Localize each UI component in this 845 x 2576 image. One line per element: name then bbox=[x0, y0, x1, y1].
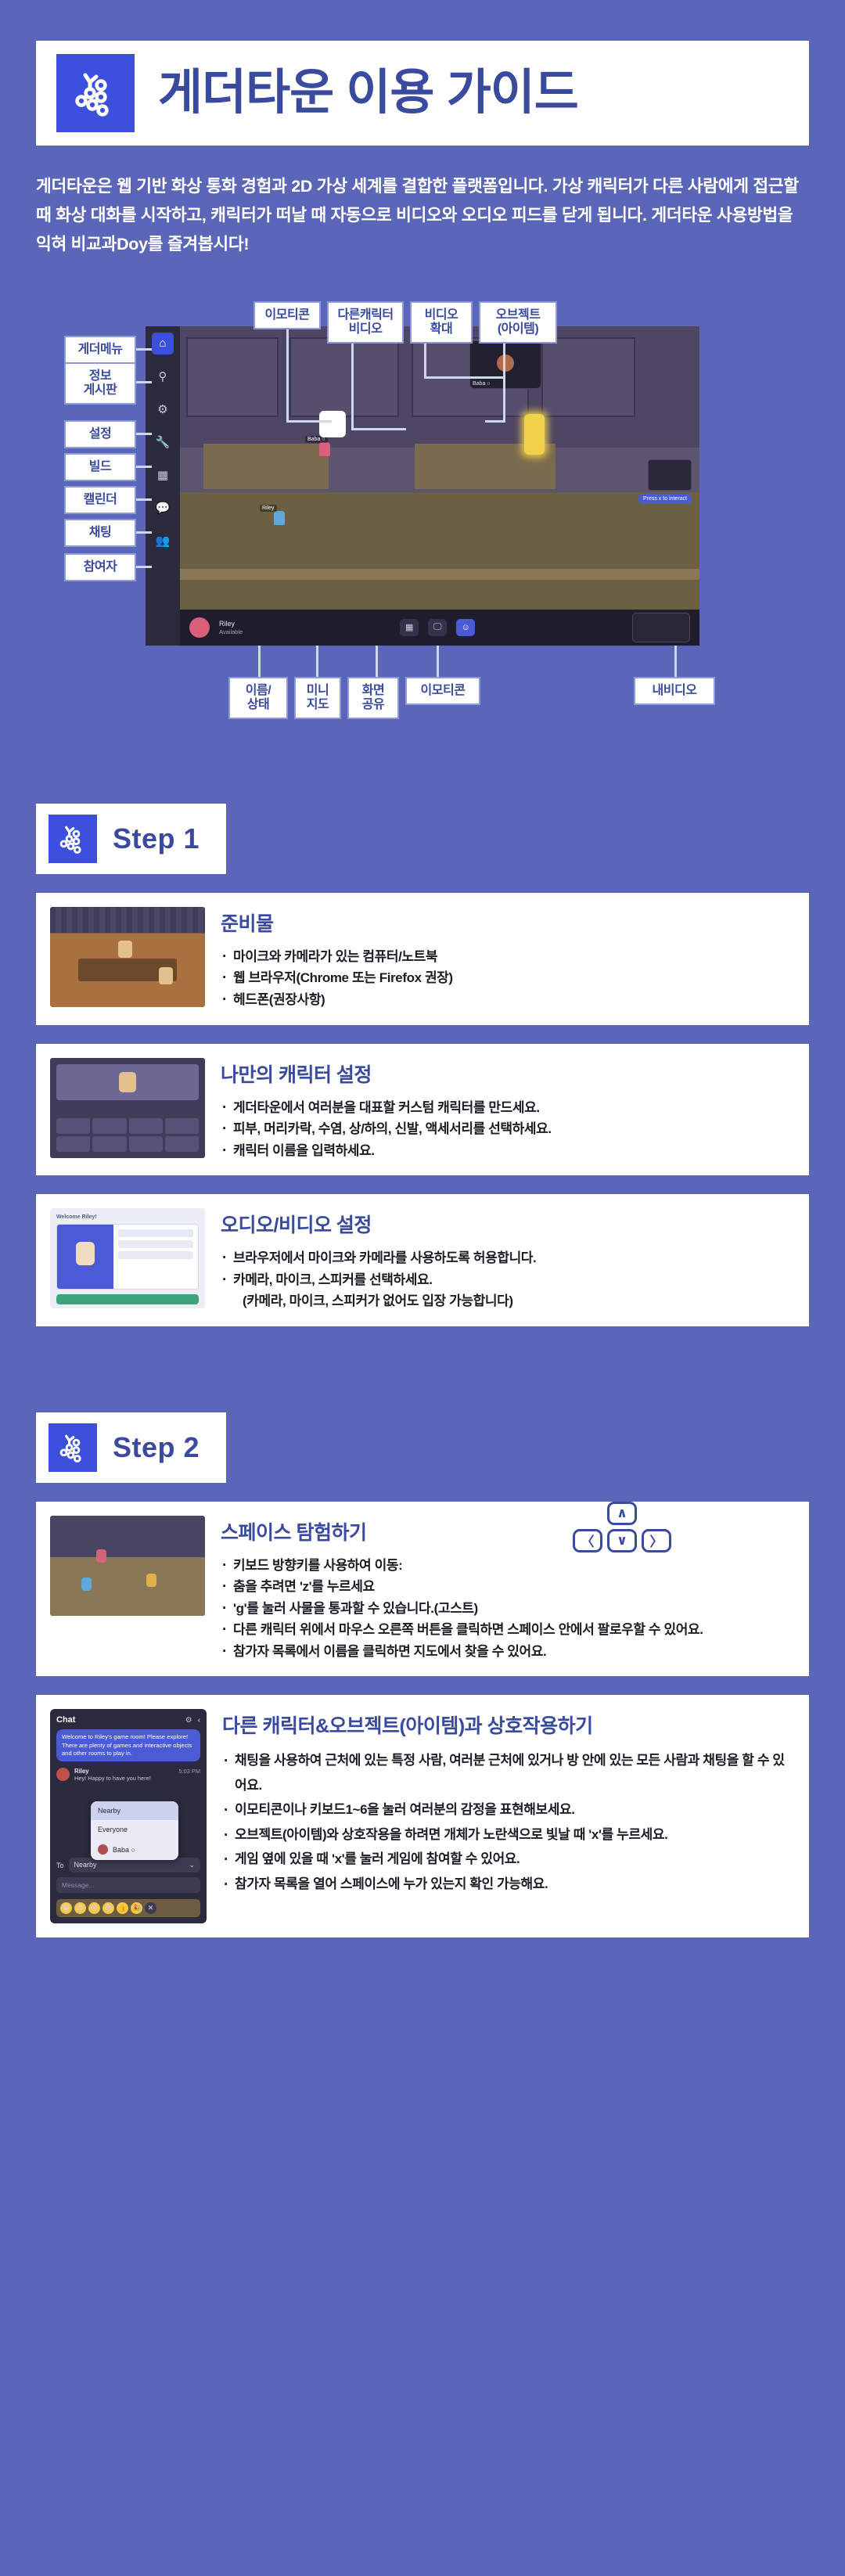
app-bottom-bar[interactable]: Riley Available ▦ 🖵 ☺ bbox=[180, 610, 699, 646]
step-label: Step 1 bbox=[113, 822, 200, 855]
card-title: 다른 캐릭터&오브젝트(아이템)과 상호작용하기 bbox=[222, 1711, 795, 1739]
app-left-sidebar[interactable]: ⌂ ⚲ ⚙ 🔧 ▦ 💬 👥 bbox=[146, 326, 180, 646]
list-item: 웹 브라우저(Chrome 또는 Firefox 권장) bbox=[221, 967, 795, 989]
screenshare-icon[interactable]: 🖵 bbox=[428, 619, 447, 636]
dropdown-option-nearby[interactable]: Nearby bbox=[91, 1801, 178, 1820]
card-title: 준비물 bbox=[221, 908, 795, 937]
map-room bbox=[289, 337, 399, 417]
avatar bbox=[56, 1768, 70, 1781]
collapse-icon[interactable]: ‹ bbox=[198, 1716, 200, 1725]
dropdown-option-person[interactable]: Baba ○ bbox=[91, 1839, 178, 1860]
arrow-down-key[interactable]: ∨ bbox=[607, 1529, 637, 1552]
list-item: 키보드 방향키를 사용하여 이동: bbox=[221, 1555, 795, 1577]
chat-message: Riley 5:03 PM Hey! Happy to have you her… bbox=[56, 1768, 200, 1783]
callout-participants: 참여자 bbox=[64, 553, 136, 581]
leader-line bbox=[258, 646, 261, 678]
leader-line bbox=[376, 646, 378, 678]
content-card-character: 나만의 캐릭터 설정 게더타운에서 여러분을 대표할 커스텀 캐릭터를 만드세요… bbox=[36, 1044, 809, 1176]
intro-paragraph: 게더타운은 웹 기반 화상 통화 경험과 2D 가상 세계를 결합한 플랫폼입니… bbox=[36, 172, 809, 259]
gather-app-window: ⌂ ⚲ ⚙ 🔧 ▦ 💬 👥 Baba ○ Riley 😀 Baba bbox=[146, 326, 699, 646]
emoji-6-icon[interactable]: 🎉 bbox=[131, 1902, 142, 1914]
list-item: 채팅을 사용하여 근처에 있는 특정 사람, 여러분 근처에 있거나 방 안에 … bbox=[222, 1748, 795, 1797]
list-item: 'g'를 눌러 사물을 통과할 수 있습니다.(고스트) bbox=[221, 1598, 795, 1620]
home-icon[interactable]: ⌂ bbox=[152, 333, 174, 354]
list-item: (카메라, 마이크, 스피커가 없어도 입장 가능합니다) bbox=[221, 1290, 795, 1312]
people-icon[interactable]: 👥 bbox=[152, 530, 174, 552]
page-header: 게더타운 이용 가이드 bbox=[36, 41, 809, 146]
emoticon-bubble: 😀 bbox=[319, 411, 346, 437]
content-card-av-settings: Welcome Riley! 오디오/비디오 설정 브라우저에서 마이크와 카메… bbox=[36, 1194, 809, 1326]
card-title: 오디오/비디오 설정 bbox=[221, 1210, 795, 1238]
page-title: 게더타운 이용 가이드 bbox=[158, 69, 578, 117]
step-banner-2: Step 2 bbox=[36, 1412, 226, 1483]
content-card-preparations: 준비물 마이크와 카메라가 있는 컴퓨터/노트북 웹 브라우저(Chrome 또… bbox=[36, 893, 809, 1025]
user-name: Riley bbox=[219, 620, 235, 628]
list-item: 오브젝트(아이템)와 상호작용을 하려면 개체가 노란색으로 빛날 때 'x'를… bbox=[222, 1822, 795, 1847]
recipient-select[interactable]: Nearby ⌄ bbox=[69, 1858, 200, 1873]
arrow-left-key[interactable]: 〈 bbox=[573, 1529, 602, 1552]
arrow-keys-cluster: ∧ 〈 ∨ 〉 bbox=[573, 1502, 671, 1552]
chat-to-row: To Nearby ⌄ bbox=[56, 1858, 200, 1873]
leader-line bbox=[286, 329, 289, 422]
map-floor-strip bbox=[180, 569, 699, 580]
chat-panel-header: Chat ⚙ ‹ bbox=[56, 1715, 200, 1729]
card-body: 다른 캐릭터&오브젝트(아이템)과 상호작용하기 채팅을 사용하여 근처에 있는… bbox=[222, 1709, 795, 1923]
close-icon[interactable]: ✕ bbox=[145, 1902, 156, 1914]
annotated-app-diagram: 이모티콘 다른캐릭터 비디오 비디오 확대 오브젝트 (아이템) 게더메뉴 정보… bbox=[0, 279, 845, 749]
chat-icon[interactable]: 💬 bbox=[152, 497, 174, 519]
chevron-down-icon: ⌄ bbox=[189, 1861, 195, 1869]
virtual-map-area[interactable]: Baba ○ Riley 😀 Baba ○ Press x to interac… bbox=[180, 326, 699, 646]
list-item: 마이크와 카메라가 있는 컴퓨터/노트북 bbox=[221, 946, 795, 968]
emoji-1-icon[interactable]: 😀 bbox=[60, 1902, 72, 1914]
leader-line bbox=[286, 420, 332, 423]
dropdown-option-label: Baba ○ bbox=[113, 1846, 135, 1854]
content-card-explore: 스페이스 탐험하기 키보드 방향키를 사용하여 이동: 춤을 추려면 'z'를 … bbox=[36, 1502, 809, 1677]
interact-toast: Press x to interact bbox=[638, 494, 692, 504]
leader-line bbox=[674, 646, 677, 678]
leader-line bbox=[424, 376, 504, 379]
list-item: 피부, 머리카락, 수염, 상/하의, 신발, 액세서리를 선택하세요. bbox=[221, 1118, 795, 1140]
callout-info-board: 정보 게시판 bbox=[64, 362, 136, 405]
av-settings-thumbnail: Welcome Riley! bbox=[50, 1208, 205, 1308]
step-label: Step 2 bbox=[113, 1431, 200, 1464]
card-list: 브라우저에서 마이크와 카메라를 사용하도록 허용합니다. 카메라, 마이크, … bbox=[221, 1247, 795, 1312]
character-editor-thumbnail bbox=[50, 1058, 205, 1158]
message-sender: Riley bbox=[74, 1768, 89, 1775]
gather-grapes-logo-icon bbox=[49, 815, 97, 863]
callout-settings: 설정 bbox=[64, 420, 136, 448]
message-body: Hey! Happy to have you here! bbox=[74, 1775, 200, 1783]
callout-build: 빌드 bbox=[64, 453, 136, 481]
chat-panel-mock[interactable]: Chat ⚙ ‹ Welcome to Riley's game room! P… bbox=[50, 1709, 207, 1923]
message-time: 5:03 PM bbox=[178, 1768, 200, 1775]
list-item: 참가자 목록에서 이름을 클릭하면 지도에서 찾을 수 있어요. bbox=[221, 1641, 795, 1663]
leader-line bbox=[316, 646, 318, 678]
user-status: Available bbox=[219, 628, 243, 635]
emoji-bar[interactable]: 😀 😍 😮 😢 👍 🎉 ✕ bbox=[56, 1899, 200, 1917]
list-item: 게더타운에서 여러분을 대표할 커스텀 캐릭터를 만드세요. bbox=[221, 1097, 795, 1119]
callout-my-video: 내비디오 bbox=[634, 677, 715, 705]
calendar-icon[interactable]: ▦ bbox=[152, 464, 174, 486]
gear-icon[interactable]: ⚙ bbox=[185, 1716, 192, 1725]
dropdown-option-everyone[interactable]: Everyone bbox=[91, 1820, 178, 1839]
map-room bbox=[541, 337, 635, 417]
pin-icon[interactable]: ⚲ bbox=[152, 365, 174, 387]
emoji-3-icon[interactable]: 😮 bbox=[88, 1902, 100, 1914]
callout-name-status: 이름/ 상태 bbox=[228, 677, 288, 719]
callout-video-enlarge: 비디오 확대 bbox=[410, 301, 473, 344]
card-list: 마이크와 카메라가 있는 컴퓨터/노트북 웹 브라우저(Chrome 또는 Fi… bbox=[221, 946, 795, 1011]
gear-icon[interactable]: ⚙ bbox=[152, 398, 174, 420]
list-item: 게임 옆에 있을 때 'x'를 눌러 게임에 참여할 수 있어요. bbox=[222, 1847, 795, 1871]
map-avatar[interactable] bbox=[274, 511, 285, 525]
leader-line bbox=[503, 336, 505, 422]
card-list: 게더타운에서 여러분을 대표할 커스텀 캐릭터를 만드세요. 피부, 머리카락,… bbox=[221, 1097, 795, 1162]
callout-minimap: 미니 지도 bbox=[294, 677, 341, 719]
to-label: To bbox=[56, 1862, 64, 1869]
callout-emoticon-bar: 이모티콘 bbox=[405, 677, 480, 705]
list-item: 참가자 목록을 열어 스페이스에 누가 있는지 확인 가능해요. bbox=[222, 1872, 795, 1896]
welcome-message: Welcome to Riley's game room! Please exp… bbox=[56, 1729, 200, 1761]
callout-chat: 채팅 bbox=[64, 519, 136, 547]
card-body: 스페이스 탐험하기 키보드 방향키를 사용하여 이동: 춤을 추려면 'z'를 … bbox=[221, 1516, 795, 1663]
emoji-4-icon[interactable]: 😢 bbox=[102, 1902, 114, 1914]
recipient-value: Nearby bbox=[74, 1861, 97, 1869]
list-item: 헤드폰(권장사항) bbox=[221, 989, 795, 1011]
chat-message-input[interactable]: Message... bbox=[56, 1877, 200, 1893]
room-thumbnail bbox=[50, 907, 205, 1007]
callout-emoticon: 이모티콘 bbox=[253, 301, 321, 329]
card-body: 나만의 캐릭터 설정 게더타운에서 여러분을 대표할 커스텀 캐릭터를 만드세요… bbox=[221, 1058, 795, 1162]
emoji-icon[interactable]: ☺ bbox=[456, 619, 475, 636]
leader-line bbox=[437, 646, 439, 678]
map-rug bbox=[203, 444, 329, 489]
leader-line bbox=[485, 420, 505, 423]
card-list: 키보드 방향키를 사용하여 이동: 춤을 추려면 'z'를 누르세요 'g'를 … bbox=[221, 1555, 795, 1663]
list-item: 카메라, 마이크, 스피커를 선택하세요. bbox=[221, 1269, 795, 1291]
emoji-2-icon[interactable]: 😍 bbox=[74, 1902, 86, 1914]
avatar bbox=[98, 1844, 108, 1855]
emoji-5-icon[interactable]: 👍 bbox=[117, 1902, 128, 1914]
user-name-status: Riley Available bbox=[219, 620, 243, 636]
leader-line bbox=[351, 428, 406, 430]
callout-calendar: 캘린더 bbox=[64, 486, 136, 514]
minimap-icon[interactable]: ▦ bbox=[400, 619, 419, 636]
wrench-icon[interactable]: 🔧 bbox=[152, 431, 174, 453]
card-body: 오디오/비디오 설정 브라우저에서 마이크와 카메라를 사용하도록 허용합니다.… bbox=[221, 1208, 795, 1312]
list-item: 춤을 추려면 'z'를 누르세요 bbox=[221, 1576, 795, 1598]
other-character-video-tile[interactable]: Baba ○ bbox=[469, 340, 541, 389]
map-room bbox=[186, 337, 279, 417]
arrow-right-key[interactable]: 〉 bbox=[642, 1529, 671, 1552]
callout-other-char-video: 다른캐릭터 비디오 bbox=[327, 301, 404, 344]
list-item: 브라우저에서 마이크와 카메라를 사용하도록 허용합니다. bbox=[221, 1247, 795, 1269]
chat-panel-title: Chat bbox=[56, 1715, 75, 1725]
card-body: 준비물 마이크와 카메라가 있는 컴퓨터/노트북 웹 브라우저(Chrome 또… bbox=[221, 907, 795, 1011]
leader-line bbox=[351, 336, 354, 430]
map-avatar-name: Riley bbox=[260, 505, 277, 512]
callout-object-item: 오브젝트 (아이템) bbox=[479, 301, 557, 344]
list-item: 다른 캐릭터 위에서 마우스 오른쪽 버튼을 클릭하면 스페이스 안에서 팔로우… bbox=[221, 1619, 795, 1641]
content-card-interaction: Chat ⚙ ‹ Welcome to Riley's game room! P… bbox=[36, 1695, 809, 1937]
callout-screenshare: 화면 공유 bbox=[347, 677, 399, 719]
video-tile-name: Baba ○ bbox=[473, 381, 491, 387]
card-list: 채팅을 사용하여 근처에 있는 특정 사람, 여러분 근처에 있거나 방 안에 … bbox=[222, 1748, 795, 1896]
chat-recipient-dropdown[interactable]: Nearby Everyone Baba ○ bbox=[91, 1801, 178, 1860]
interactive-object-icon[interactable] bbox=[524, 414, 545, 455]
list-item: 이모티콘이나 키보드1~6을 눌러 여러분의 감정을 표현해보세요. bbox=[222, 1797, 795, 1822]
card-title: 스페이스 탐험하기 bbox=[221, 1517, 795, 1545]
callout-gather-menu: 게더메뉴 bbox=[64, 336, 136, 364]
minimap-panel[interactable] bbox=[648, 459, 692, 491]
gather-grapes-logo-icon bbox=[49, 1423, 97, 1472]
arrow-up-key[interactable]: ∧ bbox=[607, 1502, 637, 1525]
card-title: 나만의 캐릭터 설정 bbox=[221, 1060, 795, 1088]
map-avatar[interactable] bbox=[319, 442, 330, 456]
self-video-tile[interactable] bbox=[632, 613, 690, 642]
list-item: 캐릭터 이름을 입력하세요. bbox=[221, 1140, 795, 1162]
gather-grapes-logo-icon bbox=[56, 54, 135, 132]
explore-thumbnail bbox=[50, 1516, 205, 1616]
avatar[interactable] bbox=[189, 617, 210, 638]
step-banner-1: Step 1 bbox=[36, 804, 226, 874]
